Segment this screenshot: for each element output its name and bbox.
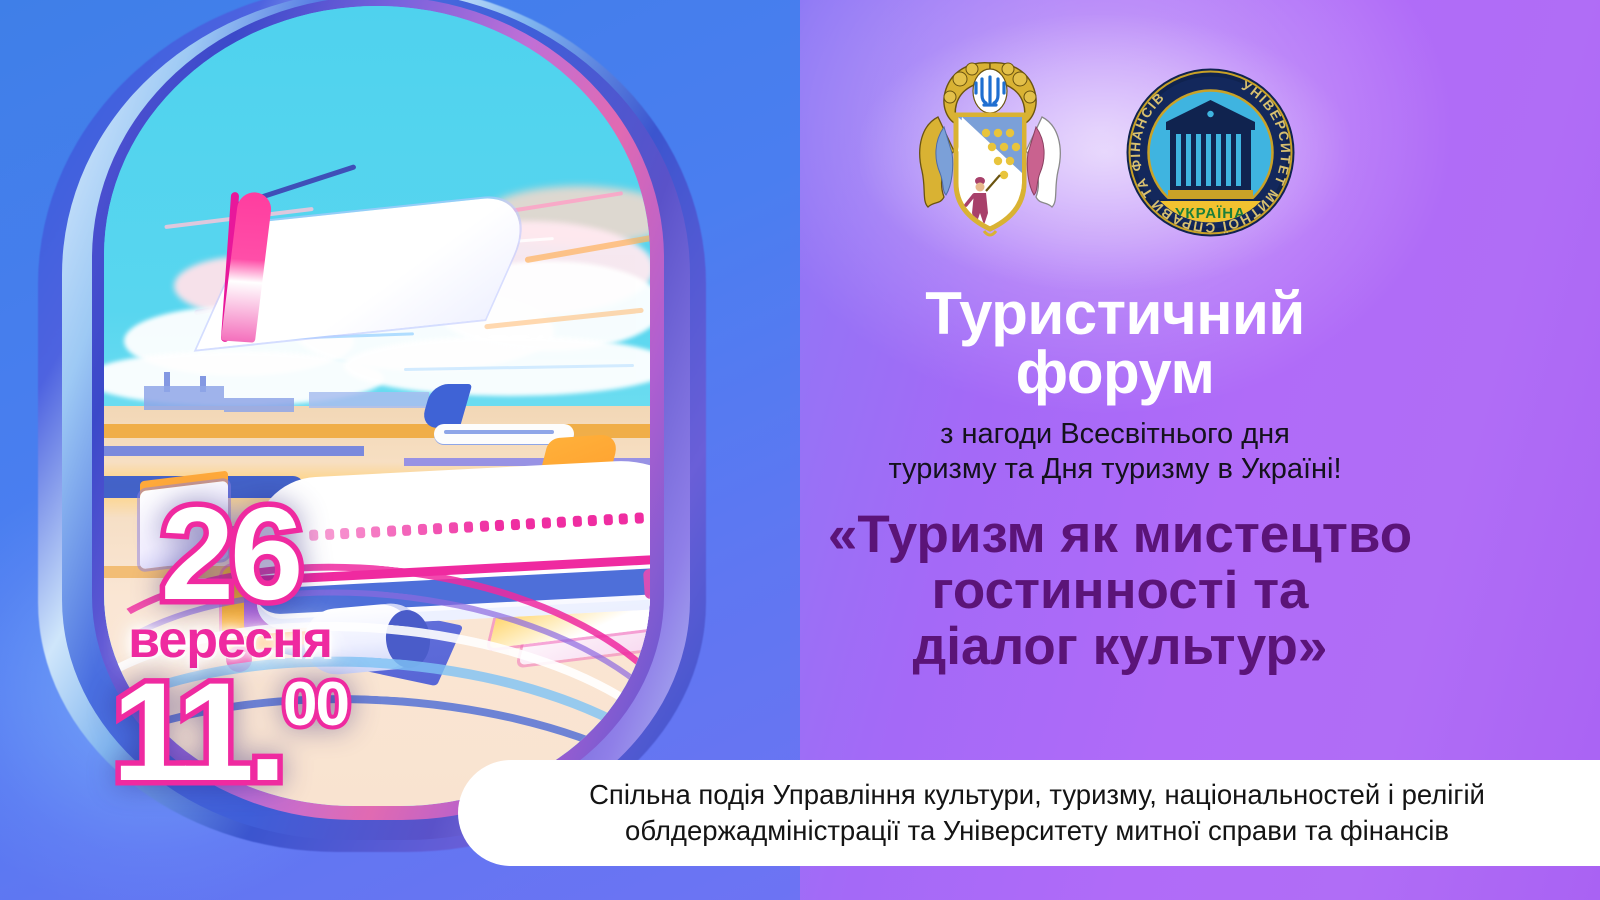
aircraft-porthole [402,525,412,536]
event-title-line1: Туристичний [740,285,1490,344]
university-seal-icon: УНІВЕРСИТЕТ МИТНОЇ СПРАВИ ТА ФІНАНСІВ [1118,60,1303,245]
event-theme-quote: «Туризм як мистецтво гостинності та діал… [740,507,1600,674]
terminal-building [224,398,294,412]
aircraft-porthole [479,521,489,532]
event-title: Туристичний форум [740,285,1600,403]
logo-group: УНІВЕРСИТЕТ МИТНОЇ СПРАВИ ТА ФІНАНСІВ [900,55,1310,250]
aircraft-porthole [495,520,505,531]
event-time-minutes: 00 [283,674,348,736]
terminal-building [144,386,224,410]
runway-marking [104,446,364,456]
event-date-block: 26 вересня 11. 00 [60,495,400,797]
event-time-hours: 11. [112,668,281,797]
terminal-building [309,392,429,408]
distant-aircraft-windows [444,430,554,434]
aircraft-porthole [603,514,613,525]
aircraft-porthole [510,519,520,530]
organizers-text: Спільна подія Управління культури, туриз… [549,777,1509,849]
aircraft-porthole [634,512,644,523]
text-column: Туристичний форум з нагоди Всесвітнього … [740,285,1600,674]
aircraft-porthole [417,524,427,535]
event-subtitle: з нагоди Всесвітнього дня туризму та Дня… [740,417,1600,488]
aircraft-porthole [541,517,551,528]
aircraft-porthole [588,515,598,526]
aircraft-porthole [526,518,536,529]
coat-of-arms-icon [900,55,1080,250]
aircraft-porthole [448,522,458,533]
aircraft-porthole [464,521,474,532]
event-title-line2: форум [740,344,1490,403]
aircraft-cockpit-windows [643,563,650,604]
aircraft-porthole [618,513,628,524]
event-time: 11. 00 [60,668,400,797]
aircraft-porthole [433,523,443,534]
aircraft-porthole [557,516,567,527]
aircraft-porthole [572,516,582,527]
event-day-number: 26 [60,495,400,614]
cockpit-window-pane [643,567,650,599]
poster-root: УНІВЕРСИТЕТ МИТНОЇ СПРАВИ ТА ФІНАНСІВ [0,0,1600,900]
organizers-banner: Спільна подія Управління культури, туриз… [458,760,1600,866]
